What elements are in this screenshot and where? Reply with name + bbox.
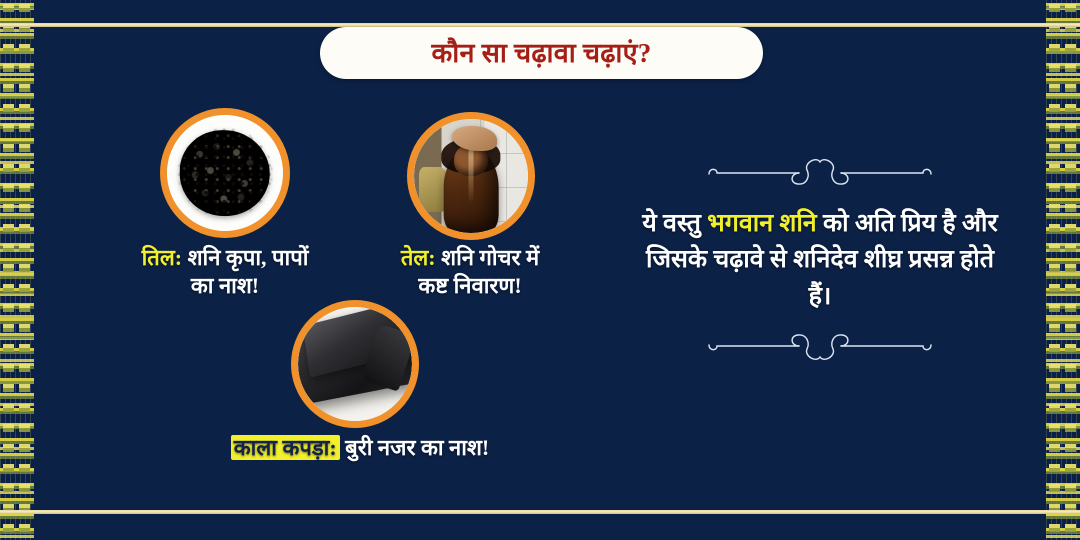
title-pill: कौन सा चढ़ावा चढ़ाएं? (320, 27, 763, 79)
ornamental-border-left (0, 0, 34, 540)
poster-canvas: कौन सा चढ़ावा चढ़ाएं? तिल: शनि कृपा, पाप… (0, 0, 1080, 540)
item-til-desc-line2: का नाश! (191, 273, 259, 298)
ornamental-border-right (1046, 0, 1080, 540)
item-til-keyword: तिल: (142, 245, 182, 270)
black-cloth-photo (298, 307, 412, 421)
item-kala-kapda-keyword: काला कपड़ा: (231, 435, 340, 460)
right-text-highlight: भगवान शनि (707, 210, 817, 237)
sesame-pile-shape (180, 130, 270, 216)
item-tel-desc-line2: कष्ट निवारण! (418, 273, 521, 298)
page-title: कौन सा चढ़ावा चढ़ाएं? (432, 40, 652, 67)
item-tel-image (407, 112, 535, 240)
right-panel: ये वस्तु भगवान शनि को अति प्रिय है और जि… (620, 150, 1020, 369)
item-kala-kapda-desc-line1: बुरी नजर का नाश! (345, 435, 489, 460)
gold-rule-bottom (0, 510, 1080, 514)
oil-stream-shape (469, 149, 474, 201)
ornament-divider-bottom (695, 327, 945, 369)
item-tel-caption: तेल: शनि गोचर में कष्ट निवारण! (355, 244, 585, 300)
item-tel-keyword: तेल: (401, 245, 436, 270)
item-tel-desc-line1: शनि गोचर में (441, 245, 539, 270)
shani-idol-oil-abhishek-photo (414, 119, 528, 233)
ornament-divider-top (695, 150, 945, 192)
item-til-caption: तिल: शनि कृपा, पापों का नाश! (100, 244, 350, 300)
item-til-image (160, 108, 290, 238)
right-panel-text: ये वस्तु भगवान शनि को अति प्रिय है और जि… (640, 206, 1000, 315)
right-text-part1: ये वस्तु (642, 210, 707, 237)
item-til-desc-line1: शनि कृपा, पापों (188, 245, 309, 270)
black-sesame-seeds-photo (167, 115, 283, 231)
item-kala-kapda-image (291, 300, 419, 428)
item-kala-kapda-caption: काला कपड़ा: बुरी नजर का नाश! (150, 434, 570, 462)
